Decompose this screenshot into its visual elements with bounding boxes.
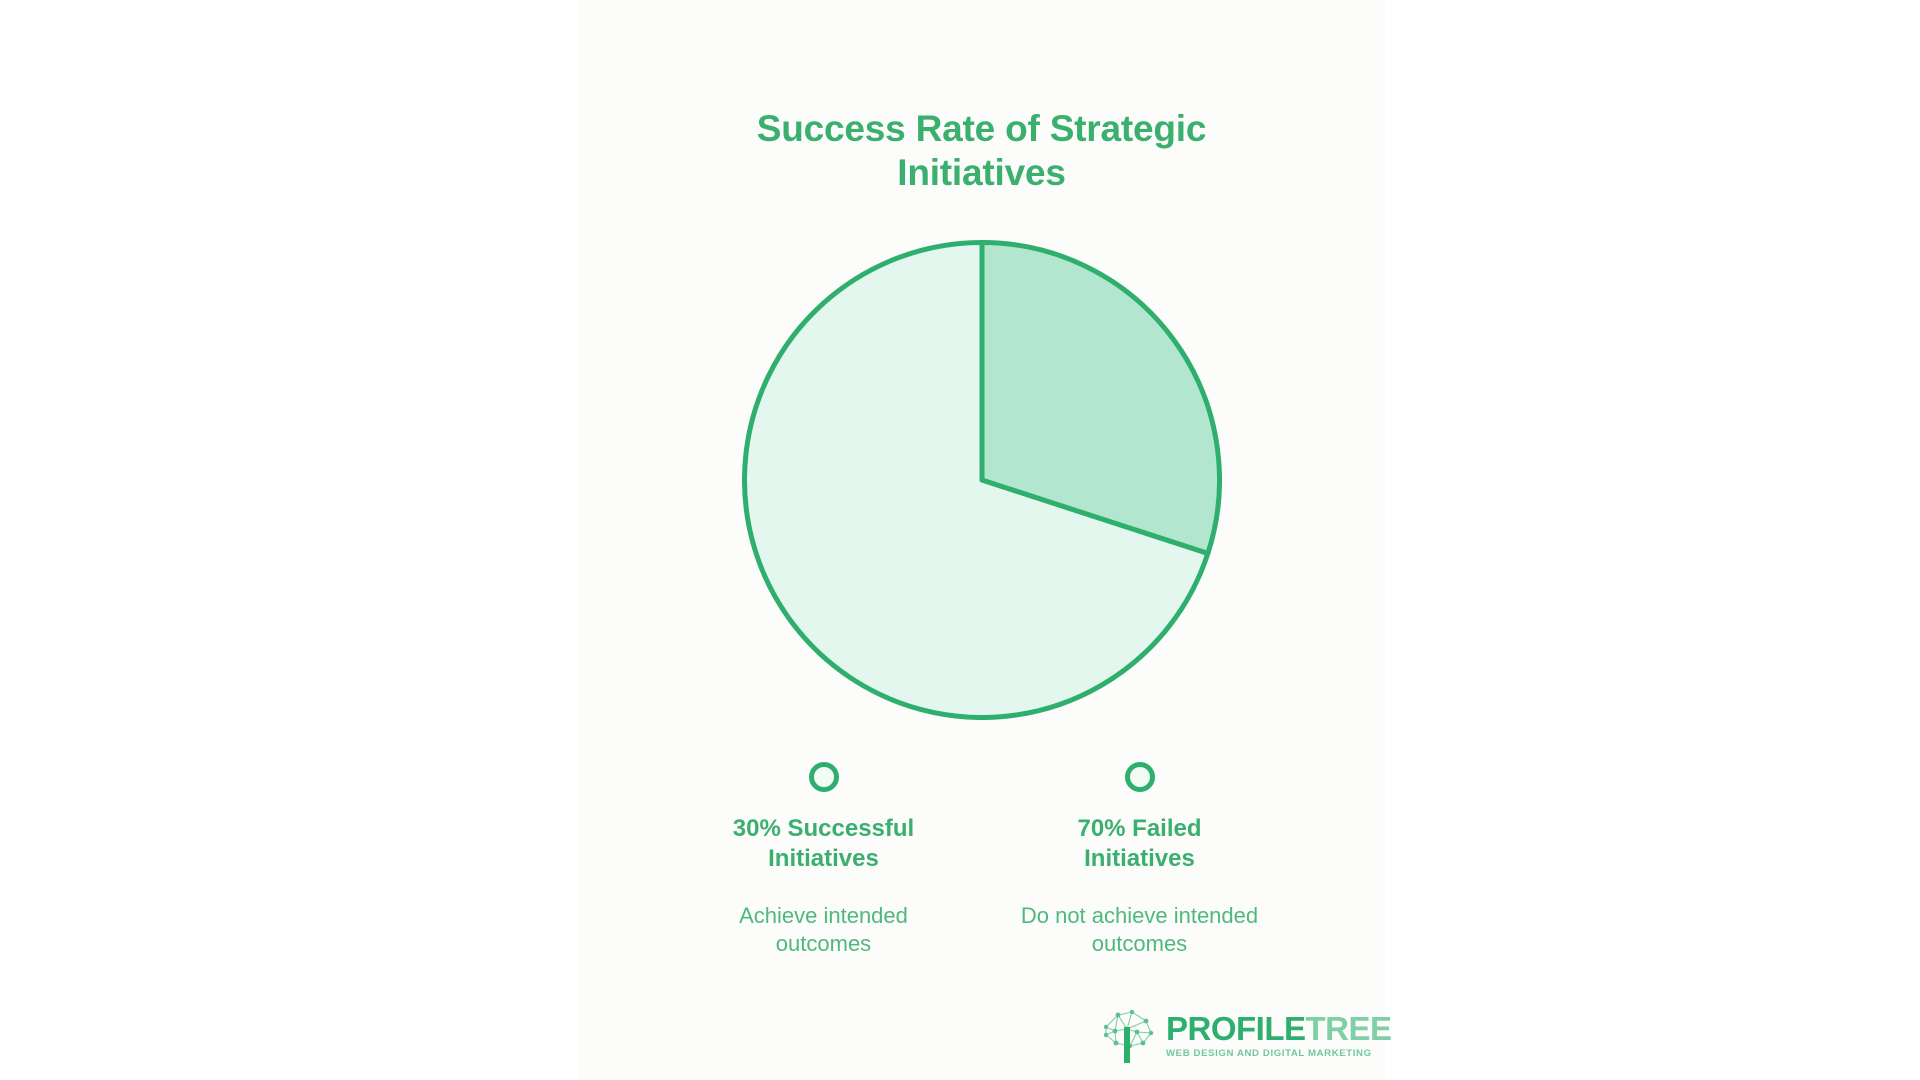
legend-item-successful[interactable]: 30% Successful Initiatives Achieve inten… [699, 762, 949, 958]
legend-heading-failed: 70% Failed Initiatives [1015, 814, 1265, 874]
ring-marker-icon [809, 762, 839, 792]
brand-word-profile: PROFILE [1166, 1010, 1306, 1047]
legend-item-failed[interactable]: 70% Failed Initiatives Do not achieve in… [1015, 762, 1265, 958]
chart-legend: 30% Successful Initiatives Achieve inten… [578, 762, 1385, 958]
page-title: Success Rate of Strategic Initiatives [578, 107, 1385, 196]
brand-logo-text: PROFILETREE WEB DESIGN AND DIGITAL MARKE… [1166, 1012, 1392, 1059]
brand-logo[interactable]: PROFILETREE WEB DESIGN AND DIGITAL MARKE… [1096, 1002, 1371, 1068]
legend-description-failed: Do not achieve intended outcomes [1015, 902, 1265, 957]
pie-chart [578, 240, 1385, 720]
infographic-card: Success Rate of Strategic Initiatives 30… [578, 0, 1385, 1080]
brand-word-tree: TREE [1306, 1010, 1392, 1047]
page-title-line-1: Success Rate of Strategic [578, 107, 1385, 151]
network-tree-icon [1096, 1005, 1158, 1065]
ring-marker-icon [1125, 762, 1155, 792]
legend-heading-successful: 30% Successful Initiatives [699, 814, 949, 874]
page-title-line-2: Initiatives [578, 151, 1385, 195]
pie-chart-svg [742, 240, 1222, 720]
legend-description-successful: Achieve intended outcomes [699, 902, 949, 957]
brand-wordmark: PROFILETREE [1166, 1012, 1392, 1045]
brand-tagline: WEB DESIGN AND DIGITAL MARKETING [1166, 1049, 1392, 1059]
